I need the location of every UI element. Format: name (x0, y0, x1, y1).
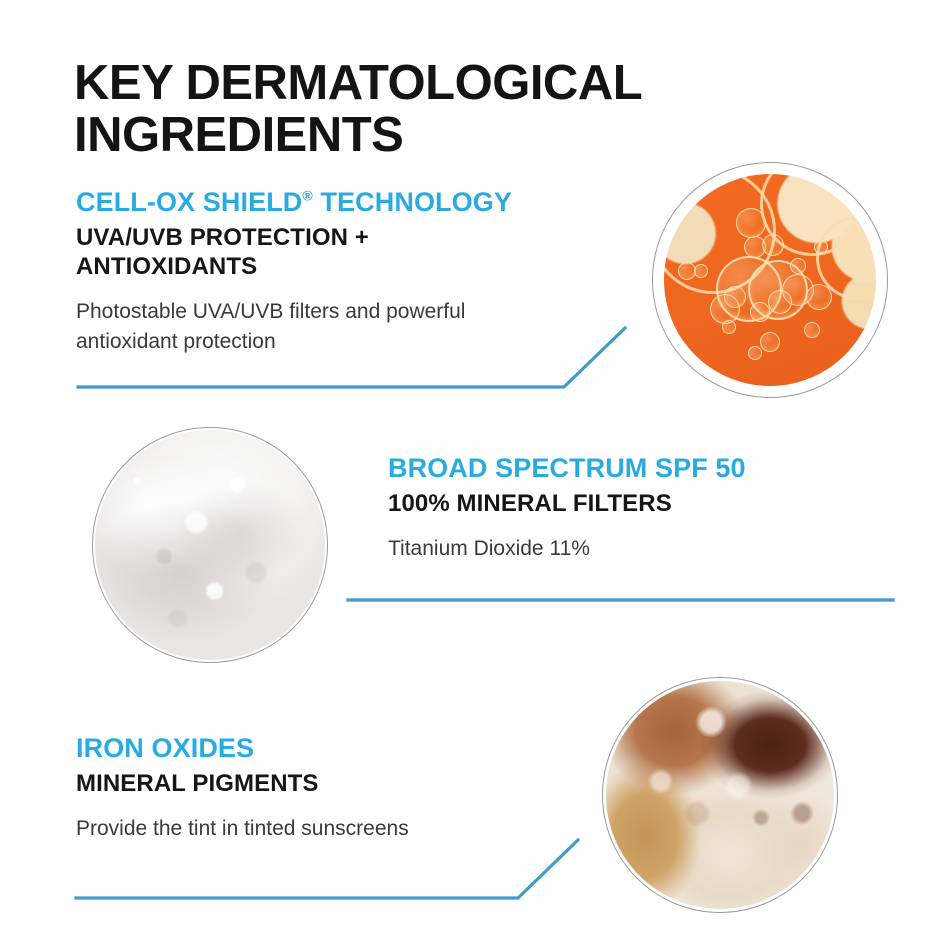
section-2-eyebrow: BROAD SPECTRUM SPF 50 (388, 452, 908, 484)
infographic-page: KEY DERMATOLOGICAL INGREDIENTS CELL-OX S… (0, 0, 930, 930)
section-3-eyebrow: IRON OXIDES (76, 732, 596, 764)
section-1-body-line-1: Photostable UVA/UVB filters and powerful (76, 297, 676, 327)
white-mineral-powder-circle (95, 430, 325, 660)
bubble-19 (814, 240, 828, 254)
section-2-subhead: 100% MINERAL FILTERS (388, 489, 908, 518)
bubble-13 (694, 264, 708, 278)
section-2-body-line-1: Titanium Dioxide 11% (388, 534, 908, 564)
section-3-body-line-1: Provide the tint in tinted sunscreens (76, 814, 596, 844)
registered-trademark-icon: ® (302, 187, 312, 203)
section-3-subhead-line-1: MINERAL PIGMENTS (76, 769, 596, 798)
section-1-subhead-line-1: UVA/UVB PROTECTION + (76, 223, 676, 252)
page-title-line-2: INGREDIENTS (74, 109, 774, 161)
bubble-18 (748, 346, 762, 360)
section-1-subhead: UVA/UVB PROTECTION + ANTIOXIDANTS (76, 223, 676, 281)
bubble-7 (806, 284, 832, 310)
bubble-3 (736, 208, 766, 238)
section-broad-spectrum-spf-50: BROAD SPECTRUM SPF 50 100% MINERAL FILTE… (388, 452, 908, 564)
section-1-eyebrow-tail: TECHNOLOGY (313, 187, 512, 217)
section-3-body: Provide the tint in tinted sunscreens (76, 814, 596, 844)
section-iron-oxides: IRON OXIDES MINERAL PIGMENTS Provide the… (76, 732, 596, 844)
bubble-9 (750, 302, 770, 322)
section-1-eyebrow-text: CELL-OX SHIELD (76, 187, 302, 217)
section-1-eyebrow: CELL-OX SHIELD® TECHNOLOGY (76, 186, 676, 218)
page-title: KEY DERMATOLOGICAL INGREDIENTS (74, 57, 774, 161)
section-1-body: Photostable UVA/UVB filters and powerful… (76, 297, 676, 357)
bubble-14 (790, 258, 806, 274)
bubble-17 (722, 320, 736, 334)
orange-oil-bubbles-circle (664, 174, 876, 386)
section-2-subhead-line-1: 100% MINERAL FILTERS (388, 489, 908, 518)
bubble-15 (804, 322, 820, 338)
section-3-subhead: MINERAL PIGMENTS (76, 769, 596, 798)
section-1-body-line-2: antioxidant protection (76, 327, 676, 357)
section-2-body: Titanium Dioxide 11% (388, 534, 908, 564)
bubble-16 (760, 332, 780, 352)
bubble-5 (762, 234, 784, 256)
bubble-11 (724, 286, 746, 308)
page-title-line-1: KEY DERMATOLOGICAL (74, 57, 774, 109)
section-cell-ox-shield: CELL-OX SHIELD® TECHNOLOGY UVA/UVB PROTE… (76, 186, 676, 357)
section-1-subhead-line-2: ANTIOXIDANTS (76, 252, 676, 281)
bubble-8 (768, 290, 792, 314)
iron-oxide-pigments-circle (606, 681, 834, 909)
connector-line-section-3 (76, 840, 578, 898)
